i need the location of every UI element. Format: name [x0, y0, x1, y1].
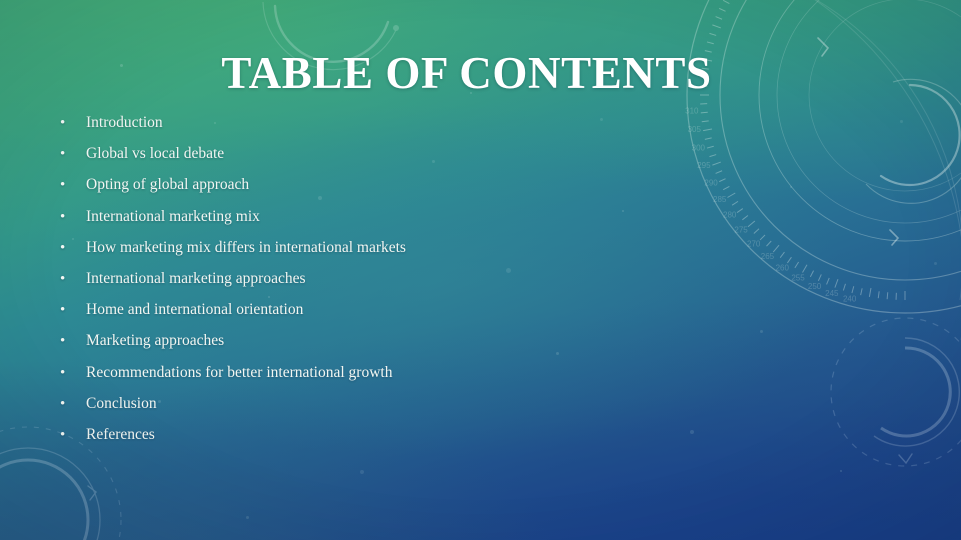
presentation-slide: 240 245 250 255 260 265 270 275 280 285 …: [0, 0, 961, 540]
background-vignette: [0, 0, 961, 540]
